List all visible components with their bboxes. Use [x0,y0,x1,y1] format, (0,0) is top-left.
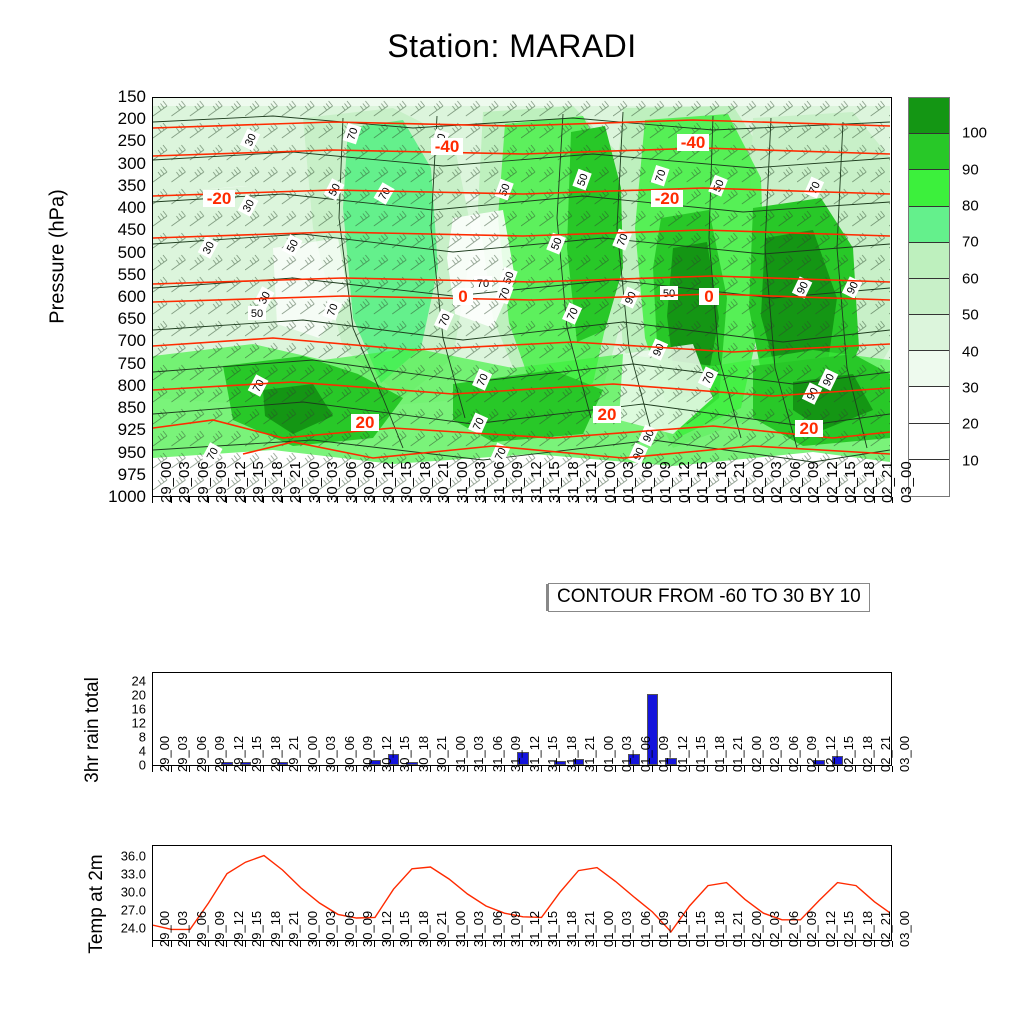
x-tick-mark [800,941,801,947]
x-tick-mark [781,766,782,772]
x-tick-label: 01_09 [657,461,674,503]
rain-axis: 04812162024 [104,672,146,766]
x-tick-mark [152,941,153,947]
x-tick-mark [578,941,579,947]
x-tick-mark [393,766,394,772]
x-tick-mark [208,766,209,772]
x-tick-mark [226,941,227,947]
colorbar-tick-label: 80 [962,198,979,215]
x-tick-mark [559,766,560,772]
x-tick-mark [208,941,209,947]
colorbar-segment [909,279,949,315]
rain-tick-label: 4 [139,743,146,758]
colorbar-tick-label: 10 [962,452,979,469]
x-tick-mark [263,941,264,947]
x-tick-mark [855,497,856,503]
x-tick-label: 29_06 [195,461,212,503]
x-tick-label: 30_21 [435,461,452,503]
x-tick-mark [818,941,819,947]
x-tick-label: 31_09 [509,461,526,503]
x-tick-mark [689,941,690,947]
x-tick-mark [411,497,412,503]
x-tick-mark [670,941,671,947]
x-tick-label: 29_21 [287,461,304,503]
pressure-tick-label: 950 [118,443,146,463]
colorbar-tick-label: 100 [962,125,987,142]
colorbar-segment [909,207,949,243]
x-tick-mark [874,766,875,772]
pressure-tick-label: 250 [118,131,146,151]
x-tick-mark [652,941,653,947]
colorbar-segment [909,315,949,351]
x-tick-label: 29_03 [176,461,193,503]
svg-text:50: 50 [251,308,263,320]
x-tick-mark [633,941,634,947]
x-tick-label: 29_12 [232,461,249,503]
x-tick-label: 01_00 [602,461,619,503]
x-tick-label: 31_03 [472,461,489,503]
x-tick-label: 30_03 [324,461,341,503]
x-tick-mark [300,497,301,503]
x-tick-mark [522,941,523,947]
x-tick-mark [541,941,542,947]
x-tick-mark [430,497,431,503]
x-tick-label: 02_21 [879,461,896,503]
x-tick-mark [596,941,597,947]
x-tick-mark [763,941,764,947]
rain-tick-label: 16 [132,701,146,716]
pressure-tick-label: 800 [118,376,146,396]
x-tick-mark [800,497,801,503]
x-tick-label: 31_18 [565,461,582,503]
x-tick-mark [800,766,801,772]
x-tick-mark [818,497,819,503]
x-tick-label: 01_18 [713,461,730,503]
x-tick-mark [744,941,745,947]
temp-tick-label: 36.0 [121,848,146,863]
x-tick-mark [763,766,764,772]
x-tick-mark [374,766,375,772]
x-tick-mark [615,941,616,947]
x-tick-mark [152,766,153,772]
x-tick-mark [781,497,782,503]
rain-tick-label: 24 [132,673,146,688]
x-tick-label: 02_18 [861,461,878,503]
colorbar-segment [909,387,949,423]
x-tick-mark [300,941,301,947]
x-tick-label: 02_03 [768,461,785,503]
x-tick-mark [689,766,690,772]
x-tick-mark [245,497,246,503]
x-tick-mark [171,766,172,772]
x-tick-label: 29_00 [158,461,175,503]
x-tick-mark [393,497,394,503]
pressure-tick-label: 1000 [108,487,146,507]
colorbar-tick-label: 40 [962,343,979,360]
pressure-tick-label: 925 [118,420,146,440]
colorbar-tick-label: 90 [962,161,979,178]
x-tick-label: 01_12 [676,461,693,503]
colorbar-segment [909,243,949,279]
x-tick-mark [467,941,468,947]
x-tick-mark [874,941,875,947]
x-tick-mark [300,766,301,772]
x-tick-label: 02_12 [824,461,841,503]
x-tick-mark [744,497,745,503]
x-tick-label: 02_15 [842,461,859,503]
x-tick-mark [374,497,375,503]
colorbar-tick-label: 30 [962,379,979,396]
x-tick-mark [615,766,616,772]
x-tick-mark [892,766,893,772]
svg-text:-20: -20 [207,189,232,208]
x-tick-mark [763,497,764,503]
x-tick-label: 02_00 [750,461,767,503]
rain-tick-label: 0 [139,757,146,772]
x-tick-mark [670,497,671,503]
x-tick-mark [485,766,486,772]
x-tick-mark [337,497,338,503]
x-tick-mark [282,766,283,772]
x-tick-label: 01_03 [620,461,637,503]
x-tick-mark [171,941,172,947]
x-tick-mark [726,941,727,947]
x-tick-mark [319,941,320,947]
x-tick-mark [874,497,875,503]
pressure-tick-label: 350 [118,176,146,196]
temp-tick-label: 24.0 [121,920,146,935]
pressure-tick-label: 850 [118,398,146,418]
x-tick-label: 31_00 [454,461,471,503]
x-tick-mark [504,497,505,503]
x-tick-label: 30_18 [417,461,434,503]
x-tick-mark [707,497,708,503]
x-tick-label: 30_06 [343,461,360,503]
x-tick-mark [615,497,616,503]
x-tick-mark [430,766,431,772]
x-tick-label: 29_15 [250,461,267,503]
x-tick-mark [171,497,172,503]
x-tick-mark [596,497,597,503]
colorbar-tick-label: 60 [962,270,979,287]
x-tick-mark [189,766,190,772]
x-tick-mark [541,766,542,772]
x-tick-label: 29_09 [213,461,230,503]
x-tick-label: 29_18 [269,461,286,503]
svg-text:0: 0 [704,287,713,306]
x-tick-mark [707,941,708,947]
x-tick-label: 03_00 [898,461,915,503]
x-tick-mark [189,497,190,503]
x-tick-mark [726,497,727,503]
colorbar-tick-label: 70 [962,234,979,251]
x-tick-mark [892,497,893,503]
x-tick-mark [633,766,634,772]
colorbar-segment [909,351,949,387]
pressure-tick-label: 550 [118,265,146,285]
x-tick-label: 03_00 [897,911,912,947]
x-tick-mark [596,766,597,772]
x-tick-mark [319,766,320,772]
svg-text:0: 0 [458,287,467,306]
x-tick-mark [652,497,653,503]
svg-text:-40: -40 [435,137,460,156]
colorbar-segment [909,134,949,170]
x-tick-mark [226,766,227,772]
x-tick-mark [393,941,394,947]
sounding-cross-section-panel[interactable]: 30 70 70 30 50 70 50 50 70 50 70 30 50 5… [152,97,892,497]
x-tick-mark [282,941,283,947]
x-tick-mark [337,766,338,772]
x-tick-mark [263,766,264,772]
x-tick-mark [855,766,856,772]
x-tick-mark [208,497,209,503]
x-tick-mark [245,941,246,947]
pressure-tick-label: 500 [118,243,146,263]
x-tick-mark [578,497,579,503]
x-tick-mark [837,941,838,947]
svg-text:20: 20 [800,419,819,438]
x-tick-mark [356,941,357,947]
colorbar-tick-label: 50 [962,307,979,324]
humidity-colorbar [908,97,950,497]
x-tick-label: 30_00 [306,461,323,503]
svg-text:-20: -20 [655,189,680,208]
svg-text:70: 70 [477,278,489,290]
pressure-tick-label: 150 [118,87,146,107]
x-tick-label: 01_21 [731,461,748,503]
x-tick-mark [781,941,782,947]
x-tick-label: 01_15 [694,461,711,503]
x-tick-mark [504,766,505,772]
x-tick-label: 31_21 [583,461,600,503]
colorbar-segment [909,460,949,496]
x-tick-label: 30_15 [398,461,415,503]
x-tick-mark [818,766,819,772]
x-tick-mark [411,941,412,947]
x-tick-mark [374,941,375,947]
temp-axis: 24.027.030.033.036.0 [92,845,146,941]
pressure-tick-label: 400 [118,198,146,218]
x-tick-mark [837,497,838,503]
x-tick-mark [356,766,357,772]
temp-tick-label: 30.0 [121,884,146,899]
x-tick-mark [337,941,338,947]
rain-tick-label: 8 [139,729,146,744]
x-tick-mark [485,497,486,503]
x-tick-mark [541,497,542,503]
x-tick-mark [226,497,227,503]
cross-section-svg: 30 70 70 30 50 70 50 50 70 50 70 30 50 5… [153,98,890,495]
pressure-tick-label: 200 [118,109,146,129]
pressure-tick-label: 750 [118,354,146,374]
x-tick-label: 02_06 [787,461,804,503]
colorbar-segment [909,170,949,206]
x-tick-mark [892,941,893,947]
x-tick-mark [670,766,671,772]
x-tick-mark [448,497,449,503]
svg-text:20: 20 [356,413,375,432]
temp-tick-label: 27.0 [121,902,146,917]
rain-tick-label: 12 [132,715,146,730]
x-tick-mark [411,766,412,772]
x-tick-label: 31_12 [528,461,545,503]
colorbar-segment [909,424,949,460]
x-tick-mark [282,497,283,503]
pressure-tick-label: 650 [118,309,146,329]
x-tick-label: 30_09 [361,461,378,503]
x-tick-label: 30_12 [380,461,397,503]
pressure-axis: 1502002503003504004505005506006507007508… [50,97,146,497]
x-tick-mark [152,497,153,503]
x-tick-label: 01_06 [639,461,656,503]
x-tick-label: 31_06 [491,461,508,503]
pressure-tick-label: 700 [118,331,146,351]
x-tick-mark [522,766,523,772]
x-tick-mark [855,941,856,947]
x-tick-mark [448,766,449,772]
x-tick-mark [837,766,838,772]
x-tick-mark [430,941,431,947]
x-tick-mark [689,497,690,503]
x-tick-mark [578,766,579,772]
x-tick-label: 31_15 [546,461,563,503]
x-tick-mark [467,497,468,503]
colorbar-tick-label: 20 [962,416,979,433]
rain-tick-label: 20 [132,687,146,702]
x-tick-label: 02_09 [805,461,822,503]
contour-legend: CONTOUR FROM -60 TO 30 BY 10 [548,583,870,612]
x-tick-mark [633,497,634,503]
x-tick-label: 03_00 [897,736,912,772]
pressure-tick-label: 975 [118,465,146,485]
x-tick-mark [559,497,560,503]
colorbar-segment [909,98,949,134]
x-tick-mark [356,497,357,503]
svg-text:-40: -40 [681,133,706,152]
x-tick-mark [263,497,264,503]
x-tick-mark [744,766,745,772]
x-tick-mark [319,497,320,503]
x-tick-mark [652,766,653,772]
x-tick-mark [726,766,727,772]
x-tick-mark [448,941,449,947]
x-tick-mark [189,941,190,947]
x-tick-mark [245,766,246,772]
pressure-tick-label: 300 [118,154,146,174]
temp-tick-label: 33.0 [121,866,146,881]
x-tick-mark [467,766,468,772]
pressure-tick-label: 450 [118,220,146,240]
pressure-tick-label: 600 [118,287,146,307]
x-tick-mark [485,941,486,947]
x-tick-mark [707,766,708,772]
svg-text:50: 50 [663,288,675,300]
page-title: Station: MARADI [0,28,1024,65]
x-tick-mark [504,941,505,947]
x-tick-mark [522,497,523,503]
x-tick-mark [559,941,560,947]
svg-text:20: 20 [598,405,617,424]
